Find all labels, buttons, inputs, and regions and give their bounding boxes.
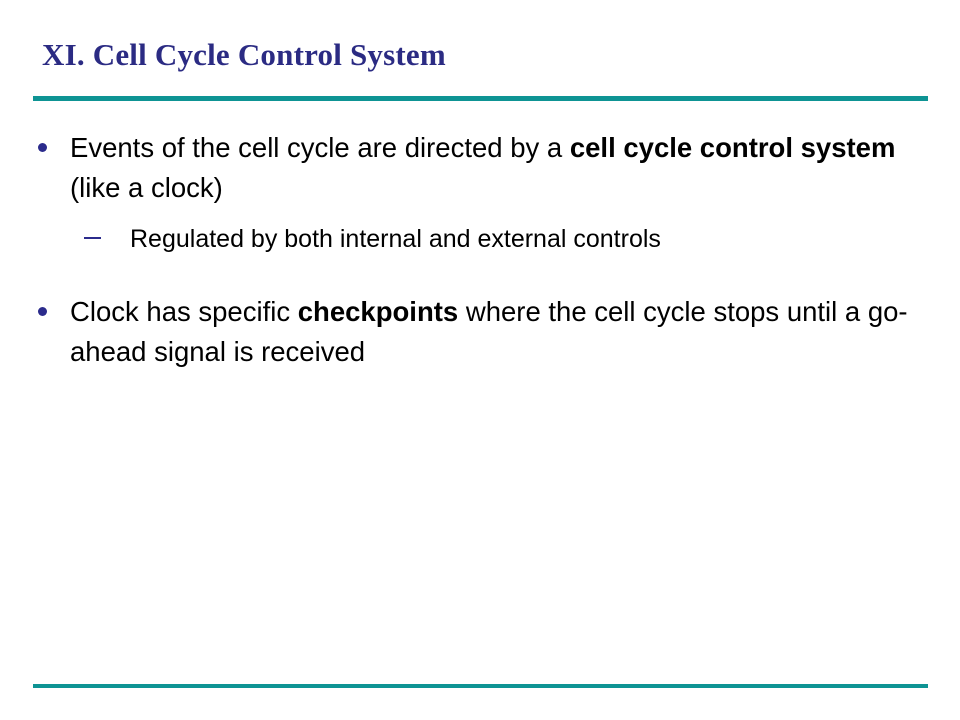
- list-item: Regulated by both internal and external …: [0, 220, 960, 258]
- title-divider-top: [33, 96, 928, 101]
- list-item-text: Regulated by both internal and external …: [130, 225, 661, 253]
- emphasized-text: cell cycle control system: [570, 132, 896, 163]
- page-title: XI. Cell Cycle Control System: [42, 37, 922, 73]
- footer-divider-bottom: [33, 684, 928, 688]
- list-item: Clock has specific checkpoints where the…: [0, 292, 950, 372]
- presentation-slide: XI. Cell Cycle Control System Events of …: [0, 0, 960, 720]
- list-item: Events of the cell cycle are directed by…: [0, 128, 950, 208]
- spacer: [0, 258, 960, 292]
- dash-bullet-icon: [84, 237, 101, 239]
- list-item-text: Events of the cell cycle are directed by…: [70, 132, 895, 203]
- list-item-text: Clock has specific checkpoints where the…: [70, 296, 908, 367]
- plain-text: Events of the cell cycle are directed by…: [70, 132, 570, 163]
- disc-bullet-icon: [38, 143, 47, 152]
- spacer: [0, 208, 960, 220]
- plain-text: Regulated by both internal and external …: [130, 225, 661, 253]
- plain-text: (like a clock): [70, 172, 223, 203]
- slide-body: Events of the cell cycle are directed by…: [0, 128, 960, 372]
- emphasized-text: checkpoints: [298, 296, 458, 327]
- plain-text: Clock has specific: [70, 296, 298, 327]
- disc-bullet-icon: [38, 307, 47, 316]
